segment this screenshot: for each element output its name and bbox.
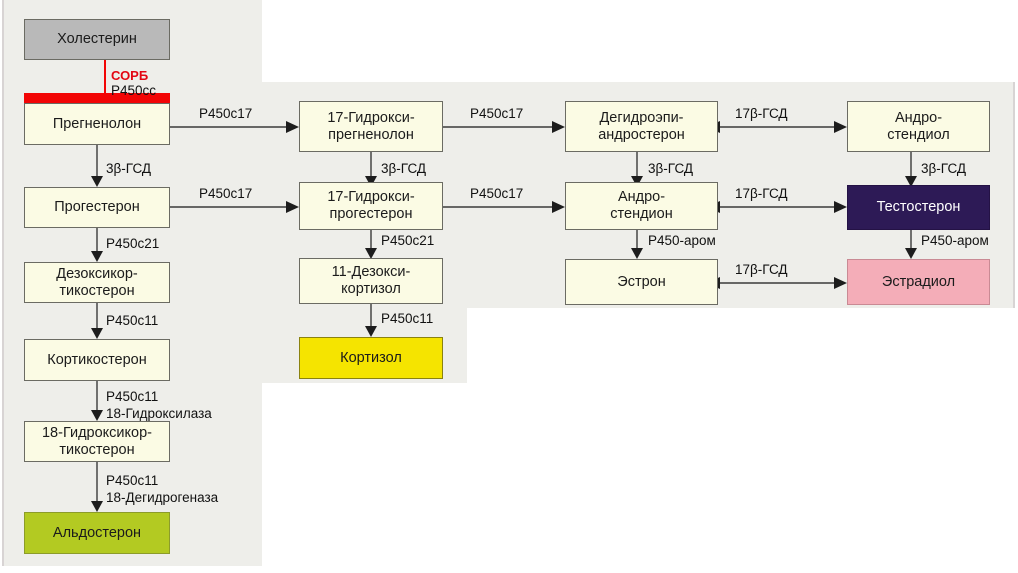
enzyme-label-hsd3b-androstenediol: 3β-ГСД <box>921 161 966 177</box>
node-label: Альдостерон <box>53 525 141 542</box>
node-label: Кортикостерон <box>47 352 147 369</box>
enzyme-label-p450scc: P450cc <box>111 83 156 99</box>
node-label-line1: Дезоксикор- <box>56 266 137 283</box>
enzyme-label-p450c11-deoxycortisol: P450c11 <box>381 311 433 327</box>
enzyme-text: 17β-ГСД <box>735 106 788 121</box>
enzyme-text: P450c17 <box>470 106 523 121</box>
node-label-line2: кортизол <box>341 281 401 298</box>
node-label: Эстрон <box>617 274 665 291</box>
enzyme-label-star: СОРБ <box>111 68 148 84</box>
enzyme-text: P450c21 <box>381 233 434 248</box>
enzyme-label-p450c17-pregnenolone: P450c17 <box>199 106 252 122</box>
enzyme-text: P450cc <box>111 83 156 98</box>
node-label: Холестерин <box>57 31 137 48</box>
enzyme-label-p450c21-17ohprogesterone: P450c21 <box>381 233 434 249</box>
node-label-line1: 18-Гидроксикор- <box>42 425 152 442</box>
enzyme-label-p450c17-17ohprogesterone: P450c17 <box>470 186 523 202</box>
node-androstenedione[interactable]: Андро- стендион <box>565 182 718 230</box>
node-17-hydroxypregnenolone[interactable]: 17-Гидрокси- прегненолон <box>299 101 443 152</box>
enzyme-text: P450c11 <box>381 311 433 326</box>
node-label-line2: андростерон <box>598 127 685 144</box>
node-cortisol[interactable]: Кортизол <box>299 337 443 379</box>
enzyme-label-p450c11-doc: P450c11 <box>106 313 158 329</box>
enzyme-label-p450c21-progesterone: P450c21 <box>106 236 159 252</box>
node-label-line1: Дегидроэпи- <box>599 110 683 127</box>
enzyme-label-hsd17b-androstenedione: 17β-ГСД <box>735 186 788 202</box>
node-estrone[interactable]: Эстрон <box>565 259 718 305</box>
node-deoxycorticosterone[interactable]: Дезоксикор- тикостерон <box>24 262 170 303</box>
enzyme-text: P450c17 <box>199 186 252 201</box>
enzyme-label-p450c11-corticosterone: P450c11 <box>106 389 158 405</box>
node-label-line1: Андро- <box>618 189 665 206</box>
node-corticosterone[interactable]: Кортикостерон <box>24 339 170 381</box>
steroidogenesis-diagram: Холестерин Прегненолон Прогестерон Дезок… <box>0 0 1018 573</box>
enzyme-text: 18-Дегидрогеназа <box>106 490 218 505</box>
enzyme-text: 3β-ГСД <box>381 161 426 176</box>
enzyme-text: СОРБ <box>111 68 148 83</box>
enzyme-label-p450c17-17ohpregnenolone: P450c17 <box>470 106 523 122</box>
node-18-hydroxycorticosterone[interactable]: 18-Гидроксикор- тикостерон <box>24 421 170 462</box>
node-label-line2: прогестерон <box>330 206 413 223</box>
node-estradiol[interactable]: Эстрадиол <box>847 259 990 305</box>
enzyme-text: P450c11 <box>106 473 158 488</box>
node-dhea[interactable]: Дегидроэпи- андростерон <box>565 101 718 152</box>
node-label-line1: 11-Дезокси- <box>332 264 411 281</box>
node-cholesterol[interactable]: Холестерин <box>24 19 170 60</box>
node-label-line2: прегненолон <box>328 127 414 144</box>
enzyme-text: 17β-ГСД <box>735 186 788 201</box>
enzyme-text: P450c11 <box>106 313 158 328</box>
enzyme-label-p450c17-progesterone: P450c17 <box>199 186 252 202</box>
enzyme-text: 18-Гидроксилаза <box>106 406 212 421</box>
node-11-deoxycortisol[interactable]: 11-Дезокси- кортизол <box>299 258 443 304</box>
enzyme-text: P450-аром <box>648 233 716 248</box>
node-label-line1: 17-Гидрокси- <box>327 189 414 206</box>
node-label: Эстрадиол <box>882 274 955 291</box>
enzyme-text: P450c17 <box>470 186 523 201</box>
enzyme-text: P450-аром <box>921 233 989 248</box>
enzyme-text: 17β-ГСД <box>735 262 788 277</box>
enzyme-label-p450arom-androstenedione: P450-аром <box>648 233 716 249</box>
enzyme-text: 3β-ГСД <box>921 161 966 176</box>
node-label: Кортизол <box>340 350 402 367</box>
node-progesterone[interactable]: Прогестерон <box>24 187 170 228</box>
node-label: Прегненолон <box>53 116 141 133</box>
enzyme-label-p450c11-18ohcorticosterone: P450c11 <box>106 473 158 489</box>
enzyme-label-p450arom-testosterone: P450-аром <box>921 233 989 249</box>
node-label: Тестостерон <box>877 199 961 216</box>
node-label-line2: тикостерон <box>59 442 134 459</box>
enzyme-text: 3β-ГСД <box>106 161 151 176</box>
enzyme-label-hsd17b-dhea: 17β-ГСД <box>735 106 788 122</box>
node-label-line2: стендион <box>610 206 672 223</box>
node-label-line1: Андро- <box>895 110 942 127</box>
node-androstenediol[interactable]: Андро- стендиол <box>847 101 990 152</box>
node-aldosterone[interactable]: Альдостерон <box>24 512 170 554</box>
enzyme-text: 3β-ГСД <box>648 161 693 176</box>
enzyme-label-18-dehydrogenase: 18-Дегидрогеназа <box>106 490 218 506</box>
enzyme-label-hsd3b-17ohpregnenolone: 3β-ГСД <box>381 161 426 177</box>
enzyme-label-hsd3b-dhea: 3β-ГСД <box>648 161 693 177</box>
node-pregnenolone[interactable]: Прегненолон <box>24 103 170 145</box>
node-testosterone[interactable]: Тестостерон <box>847 185 990 230</box>
node-label-line1: 17-Гидрокси- <box>327 110 414 127</box>
enzyme-label-18-hydroxylase: 18-Гидроксилаза <box>106 406 212 422</box>
node-label-line2: тикостерон <box>59 283 134 300</box>
node-label-line2: стендиол <box>887 127 950 144</box>
enzyme-text: P450c11 <box>106 389 158 404</box>
node-17-hydroxyprogesterone[interactable]: 17-Гидрокси- прогестерон <box>299 182 443 230</box>
enzyme-text: P450c17 <box>199 106 252 121</box>
enzyme-label-hsd17b-estrone: 17β-ГСД <box>735 262 788 278</box>
enzyme-text: P450c21 <box>106 236 159 251</box>
node-label: Прогестерон <box>54 199 140 216</box>
enzyme-label-hsd3b-pregnenolone: 3β-ГСД <box>106 161 151 177</box>
